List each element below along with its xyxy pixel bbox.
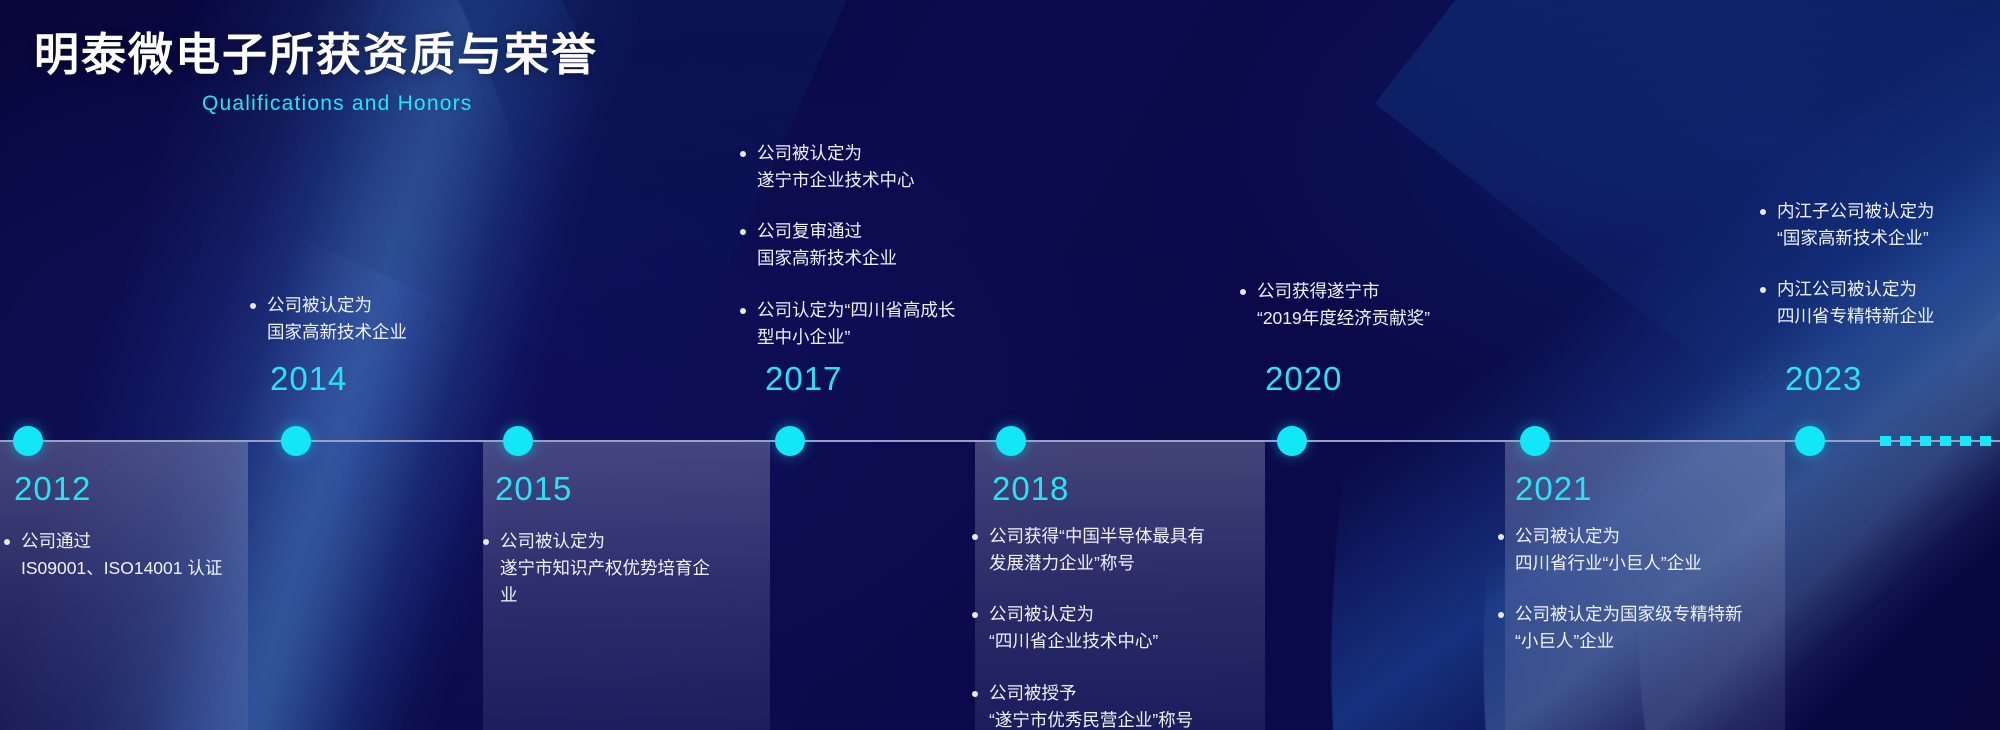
bullet-dot-icon: [972, 534, 978, 540]
bullet-text: 公司被认定为 四川省行业“小巨人”企业: [1515, 523, 1702, 577]
bullet-text: 公司被认定为国家级专精特新 “小巨人”企业: [1515, 601, 1743, 655]
year-label-2021: 2021: [1515, 470, 1592, 508]
year-label-2012: 2012: [14, 470, 91, 508]
axis-dash: [1900, 436, 1911, 446]
bullet-dot-icon: [972, 612, 978, 618]
list-item: 公司获得“中国半导体最具有 发展潜力企业”称号: [972, 523, 1272, 577]
bullet-text: 公司被认定为 遂宁市知识产权优势培育企 业: [500, 528, 710, 609]
year-label-2015: 2015: [495, 470, 572, 508]
entry-2018-bullets: 公司获得“中国半导体最具有 发展潜力企业”称号 公司被认定为 “四川省企业技术中…: [972, 523, 1272, 730]
bullet-dot-icon: [740, 151, 746, 157]
list-item: 内江公司被认定为 四川省专精特新企业: [1760, 276, 2000, 330]
bullet-text: 公司被授予 “遂宁市优秀民营企业”称号: [989, 680, 1193, 730]
bullet-dot-icon: [740, 308, 746, 314]
bullet-text: 公司被认定为 “四川省企业技术中心”: [989, 601, 1158, 655]
axis-dash: [1880, 436, 1891, 446]
bullet-dot-icon: [1498, 612, 1504, 618]
bullet-dot-icon: [4, 539, 10, 545]
year-label-2020: 2020: [1265, 360, 1342, 398]
list-item: 公司被认定为国家级专精特新 “小巨人”企业: [1498, 601, 1808, 655]
timeline-node-2017[interactable]: [775, 426, 805, 456]
header: 明泰微电子所获资质与荣誉 Qualifications and Honors: [34, 30, 598, 116]
timeline-node-2021[interactable]: [1520, 426, 1550, 456]
axis-dash: [1960, 436, 1971, 446]
page-title: 明泰微电子所获资质与荣誉: [34, 30, 598, 80]
list-item: 公司认定为“四川省高成长 型中小企业”: [740, 297, 1030, 351]
axis-dash: [1940, 436, 1951, 446]
list-item: 公司复审通过 国家高新技术企业: [740, 218, 1030, 272]
timeline-node-2020[interactable]: [1277, 426, 1307, 456]
year-label-2017: 2017: [765, 360, 842, 398]
entry-2021-bullets: 公司被认定为 四川省行业“小巨人”企业 公司被认定为国家级专精特新 “小巨人”企…: [1498, 523, 1808, 656]
bullet-text: 公司获得遂宁市 “2019年度经济贡献奖”: [1257, 278, 1430, 332]
list-item: 公司被认定为 “四川省企业技术中心”: [972, 601, 1272, 655]
bullet-dot-icon: [1760, 209, 1766, 215]
bullet-text: 公司认定为“四川省高成长 型中小企业”: [757, 297, 955, 351]
year-label-2014: 2014: [270, 360, 347, 398]
list-item: 公司获得遂宁市 “2019年度经济贡献奖”: [1240, 278, 1530, 332]
page-subtitle: Qualifications and Honors: [202, 92, 598, 116]
list-item: 内江子公司被认定为 “国家高新技术企业”: [1760, 198, 2000, 252]
list-item: 公司被认定为 国家高新技术企业: [250, 292, 510, 346]
entry-2017-bullets: 公司被认定为 遂宁市企业技术中心 公司复审通过 国家高新技术企业 公司认定为“四…: [740, 140, 1030, 351]
entry-2014-bullets: 公司被认定为 国家高新技术企业: [250, 292, 510, 346]
entry-2012-bullets: 公司通过 IS09001、ISO14001 认证: [4, 528, 254, 582]
year-label-2023: 2023: [1785, 360, 1862, 398]
bullet-dot-icon: [972, 691, 978, 697]
bullet-text: 内江子公司被认定为 “国家高新技术企业”: [1777, 198, 1935, 252]
year-label-2018: 2018: [992, 470, 1069, 508]
bullet-text: 内江公司被认定为 四川省专精特新企业: [1777, 276, 1935, 330]
bullet-text: 公司被认定为 国家高新技术企业: [267, 292, 407, 346]
bullet-dot-icon: [250, 303, 256, 309]
bullet-text: 公司被认定为 遂宁市企业技术中心: [757, 140, 915, 194]
list-item: 公司被认定为 遂宁市企业技术中心: [740, 140, 1030, 194]
list-item: 公司被认定为 四川省行业“小巨人”企业: [1498, 523, 1808, 577]
list-item: 公司被授予 “遂宁市优秀民营企业”称号: [972, 680, 1272, 730]
bullet-dot-icon: [1498, 534, 1504, 540]
list-item: 公司被认定为 遂宁市知识产权优势培育企 业: [483, 528, 783, 609]
bullet-dot-icon: [1240, 289, 1246, 295]
bullet-dot-icon: [740, 229, 746, 235]
timeline-node-2023[interactable]: [1795, 426, 1825, 456]
bullet-dot-icon: [483, 539, 489, 545]
bullet-text: 公司获得“中国半导体最具有 发展潜力企业”称号: [989, 523, 1205, 577]
timeline-node-2014[interactable]: [281, 426, 311, 456]
timeline-axis-dashes: [1880, 436, 1991, 446]
axis-dash: [1980, 436, 1991, 446]
entry-2020-bullets: 公司获得遂宁市 “2019年度经济贡献奖”: [1240, 278, 1530, 332]
bullet-dot-icon: [1760, 287, 1766, 293]
bullet-text: 公司复审通过 国家高新技术企业: [757, 218, 897, 272]
list-item: 公司通过 IS09001、ISO14001 认证: [4, 528, 254, 582]
timeline-node-2018[interactable]: [996, 426, 1026, 456]
axis-dash: [1920, 436, 1931, 446]
bullet-text: 公司通过 IS09001、ISO14001 认证: [21, 528, 222, 582]
timeline-node-2015[interactable]: [503, 426, 533, 456]
entry-2015-bullets: 公司被认定为 遂宁市知识产权优势培育企 业: [483, 528, 783, 609]
slide-canvas: 明泰微电子所获资质与荣誉 Qualifications and Honors 2…: [0, 0, 2000, 730]
entry-2023-bullets: 内江子公司被认定为 “国家高新技术企业” 内江公司被认定为 四川省专精特新企业: [1760, 198, 2000, 331]
timeline-node-2012[interactable]: [13, 426, 43, 456]
